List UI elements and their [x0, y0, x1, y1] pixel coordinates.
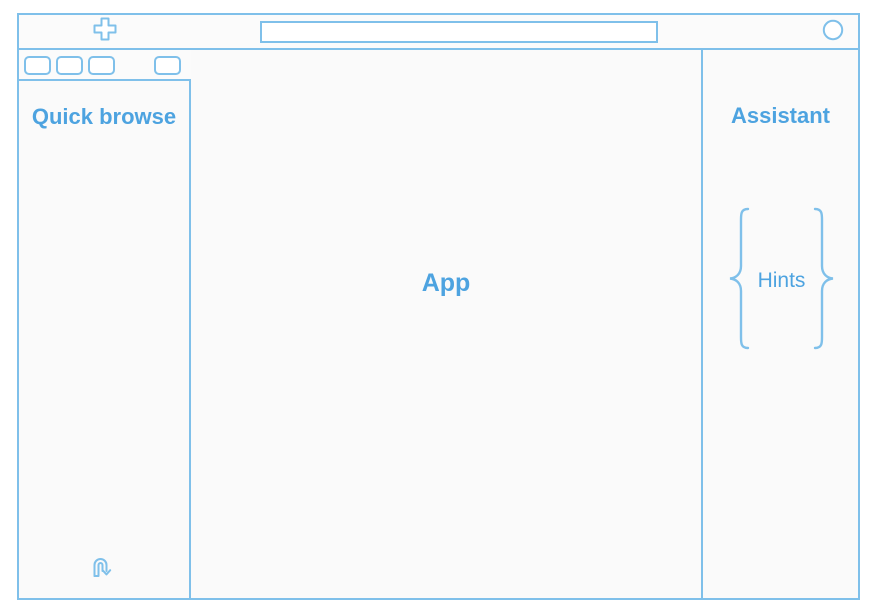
tab-strip	[19, 50, 191, 81]
top-bar	[19, 15, 858, 50]
assistant-title: Assistant	[703, 103, 858, 129]
plus-icon	[92, 16, 118, 47]
add-tab-button[interactable]	[19, 15, 191, 48]
sidebar-title: Quick browse	[19, 103, 189, 132]
tab-chip-trailing-icon[interactable]	[154, 56, 181, 75]
avatar[interactable]	[822, 21, 844, 43]
open-brace-icon	[726, 206, 752, 356]
tab-chip-icon[interactable]	[24, 56, 51, 75]
app-window-frame: Quick browse App Assistant Hints	[17, 13, 860, 600]
sidebar-footer-button[interactable]	[87, 554, 117, 584]
app-panel-label: App	[191, 269, 701, 298]
search-input[interactable]	[260, 21, 658, 43]
hints-label: Hints	[752, 269, 812, 293]
u-turn-arrow-icon	[87, 552, 117, 587]
sidebar: Quick browse	[19, 81, 191, 598]
hints-group: Hints	[713, 208, 850, 353]
main-app-panel: App	[191, 50, 703, 598]
close-brace-icon	[811, 206, 837, 356]
assistant-panel: Assistant Hints	[703, 50, 858, 598]
tab-chip-icon[interactable]	[56, 56, 83, 75]
circle-avatar-icon	[822, 19, 844, 46]
tab-chip-icon[interactable]	[88, 56, 115, 75]
